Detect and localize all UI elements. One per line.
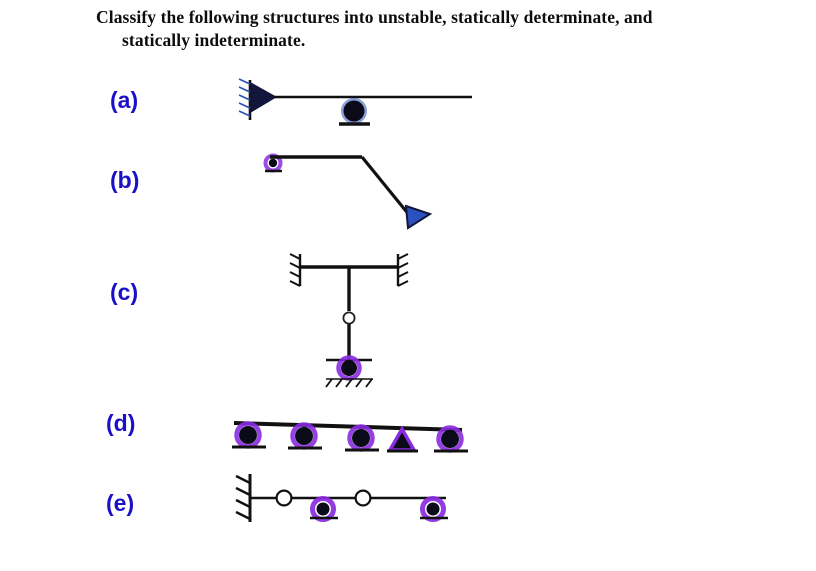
fixed-wall-right-c xyxy=(398,254,408,286)
figure-c xyxy=(282,248,422,388)
item-label-a: (a) xyxy=(110,87,138,114)
question-title-line-2: statically indeterminate. xyxy=(96,29,756,52)
beam-member-d xyxy=(234,423,462,430)
figure-e xyxy=(228,470,468,530)
wall-hatching-a xyxy=(239,79,250,120)
internal-hinge-icon-e-2 xyxy=(356,491,371,506)
roller-support-icon-d-5 xyxy=(434,428,468,452)
pin-support-icon-a xyxy=(251,83,276,112)
fixed-wall-left-c xyxy=(290,254,300,286)
figure-d xyxy=(222,414,472,460)
item-label-e: (e) xyxy=(106,490,134,517)
item-label-d: (d) xyxy=(106,410,135,437)
roller-support-icon-c xyxy=(339,358,360,379)
figure-b xyxy=(258,148,448,238)
pin-support-icon-b xyxy=(406,206,430,228)
page-canvas: Classify the following structures into u… xyxy=(0,0,816,571)
roller-support-icon-d-1 xyxy=(232,424,266,448)
figure-a xyxy=(236,72,486,132)
roller-support-icon-e-1 xyxy=(310,499,338,520)
internal-hinge-icon-e-1 xyxy=(277,491,292,506)
fixed-wall-left-e xyxy=(236,474,250,522)
item-label-c: (c) xyxy=(110,279,138,306)
item-label-b: (b) xyxy=(110,167,139,194)
internal-hinge-icon-c xyxy=(343,312,354,323)
pin-support-icon-d-4 xyxy=(387,429,418,451)
question-title-line-1: Classify the following structures into u… xyxy=(96,6,756,29)
roller-support-icon-a xyxy=(339,100,370,125)
roller-support-icon-e-2 xyxy=(420,499,448,520)
question-title: Classify the following structures into u… xyxy=(96,6,756,52)
roller-support-icon-d-3 xyxy=(345,427,379,451)
roller-support-icon-d-2 xyxy=(288,425,322,449)
beam-member-b-inclined xyxy=(362,157,410,216)
